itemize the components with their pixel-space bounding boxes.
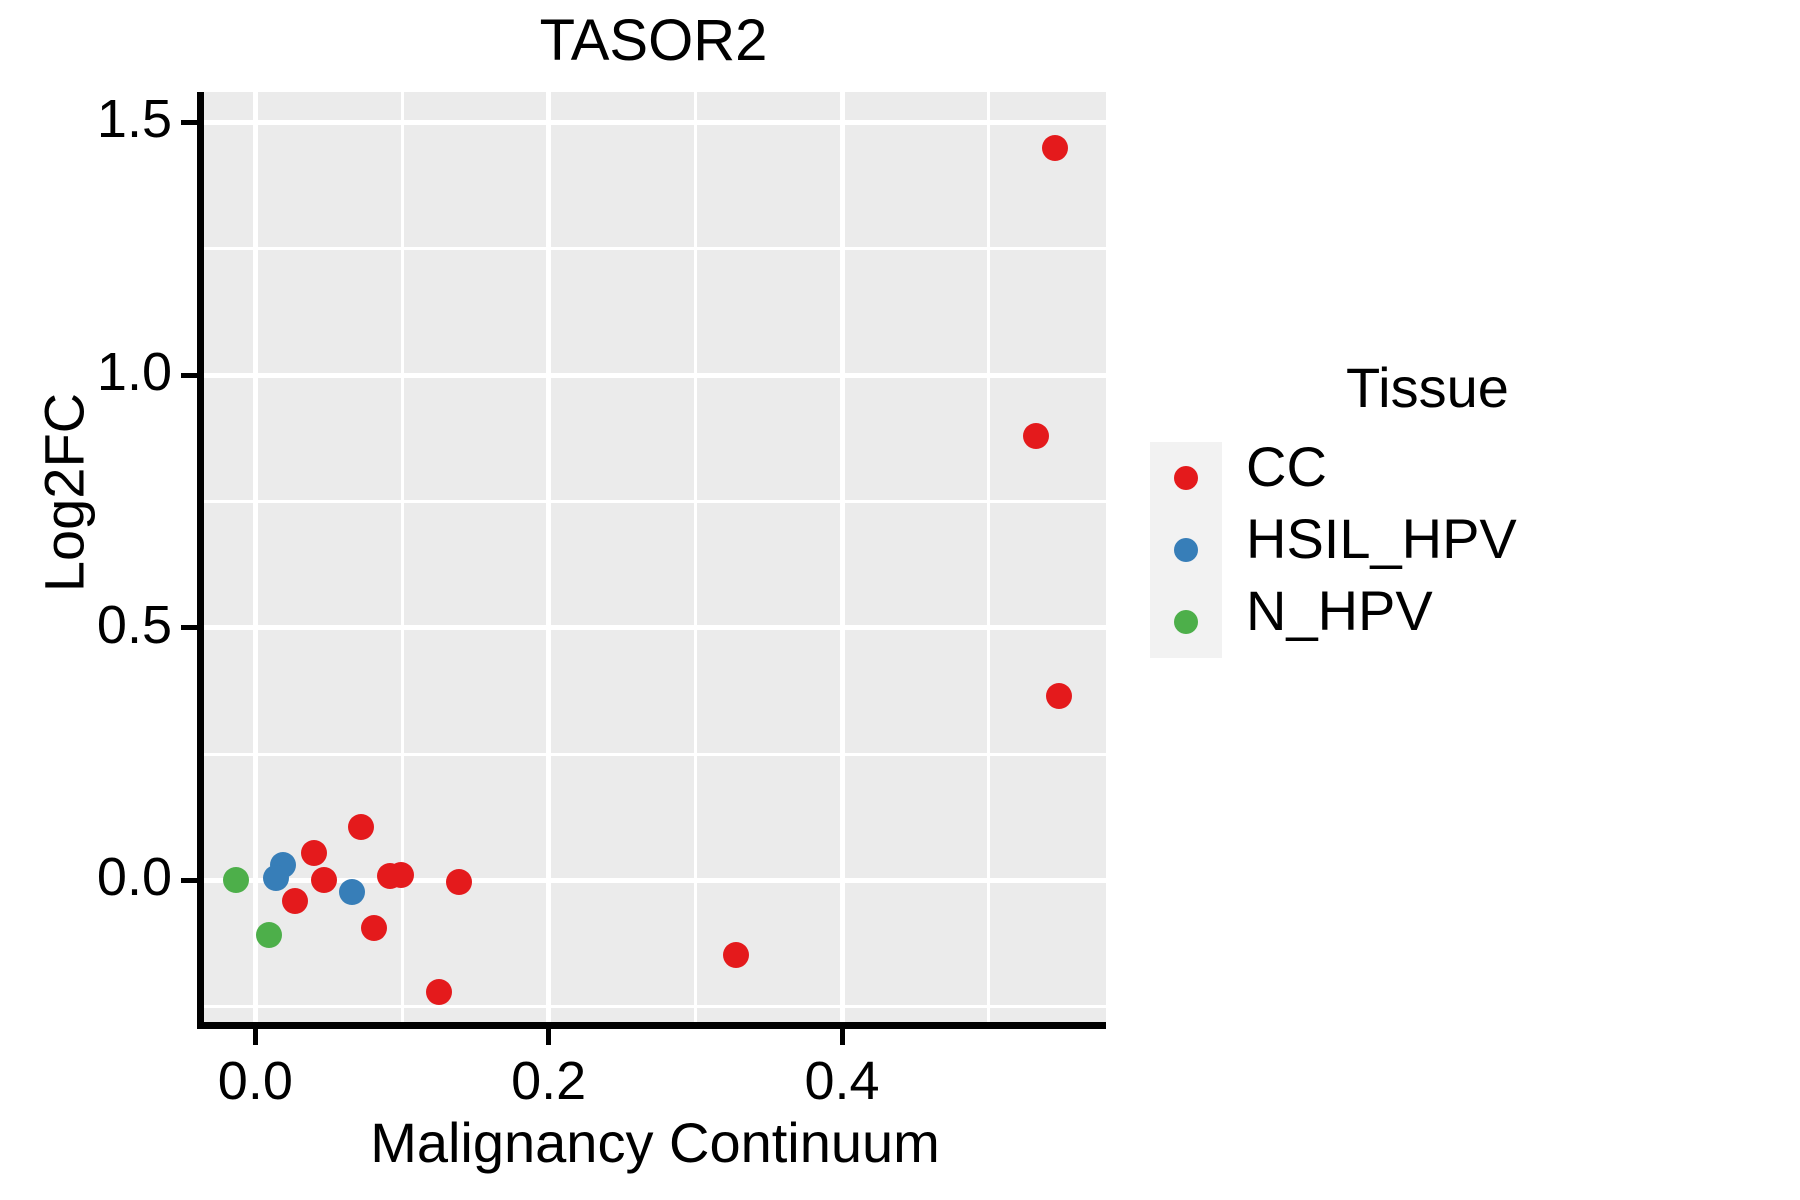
gridline-horizontal-major	[204, 878, 1106, 883]
data-point-cc	[301, 840, 327, 866]
data-point-cc	[1042, 135, 1068, 161]
gridline-horizontal-minor	[204, 247, 1106, 250]
data-point-cc	[311, 867, 337, 893]
data-point-cc	[723, 942, 749, 968]
data-point-cc	[282, 888, 308, 914]
data-point-cc	[1023, 423, 1049, 449]
legend-dot-icon	[1174, 538, 1198, 562]
y-tick-mark	[181, 120, 197, 125]
data-point-cc	[388, 862, 414, 888]
y-tick-label: 1.5	[0, 88, 172, 150]
legend-item-label: HSIL_HPV	[1246, 506, 1517, 571]
legend-dot-icon	[1174, 466, 1198, 490]
gridline-horizontal-minor	[204, 500, 1106, 503]
legend-item-label: N_HPV	[1246, 578, 1433, 643]
x-tick-mark	[253, 1029, 258, 1045]
gridline-horizontal-minor	[204, 1005, 1106, 1008]
data-point-hsil_hpv	[263, 865, 289, 891]
y-tick-mark	[181, 878, 197, 883]
gridline-horizontal-major	[204, 120, 1106, 125]
x-tick-label: 0.0	[155, 1050, 355, 1112]
page-title: TASOR2	[202, 6, 1105, 76]
data-point-cc	[1046, 683, 1072, 709]
y-axis-line	[197, 92, 204, 1029]
legend-item-label: CC	[1246, 434, 1327, 499]
gridline-horizontal-major	[204, 625, 1106, 630]
y-tick-label: 0.0	[0, 846, 172, 908]
scatter-plot-figure: TASOR2 0.00.20.4 0.00.51.01.5 Malignancy…	[0, 0, 1800, 1200]
plot-panel	[204, 92, 1106, 1022]
x-tick-label: 0.4	[742, 1050, 942, 1112]
data-point-n_hpv	[256, 922, 282, 948]
gridline-horizontal-major	[204, 373, 1106, 378]
y-axis-label: Log2FC	[32, 243, 97, 743]
x-tick-label: 0.2	[449, 1050, 649, 1112]
legend-dot-icon	[1174, 610, 1198, 634]
data-point-cc	[426, 979, 452, 1005]
data-point-hsil_hpv	[339, 879, 365, 905]
gridline-horizontal-minor	[204, 753, 1106, 756]
data-point-cc	[446, 869, 472, 895]
data-point-cc	[348, 814, 374, 840]
data-point-cc	[361, 915, 387, 941]
x-tick-mark	[546, 1029, 551, 1045]
x-tick-mark	[840, 1029, 845, 1045]
data-point-n_hpv	[223, 867, 249, 893]
y-tick-mark	[181, 373, 197, 378]
legend-title: Tissue	[1346, 355, 1509, 420]
x-axis-label: Malignancy Continuum	[204, 1110, 1106, 1175]
x-axis-line	[204, 1022, 1106, 1029]
y-tick-mark	[181, 625, 197, 630]
